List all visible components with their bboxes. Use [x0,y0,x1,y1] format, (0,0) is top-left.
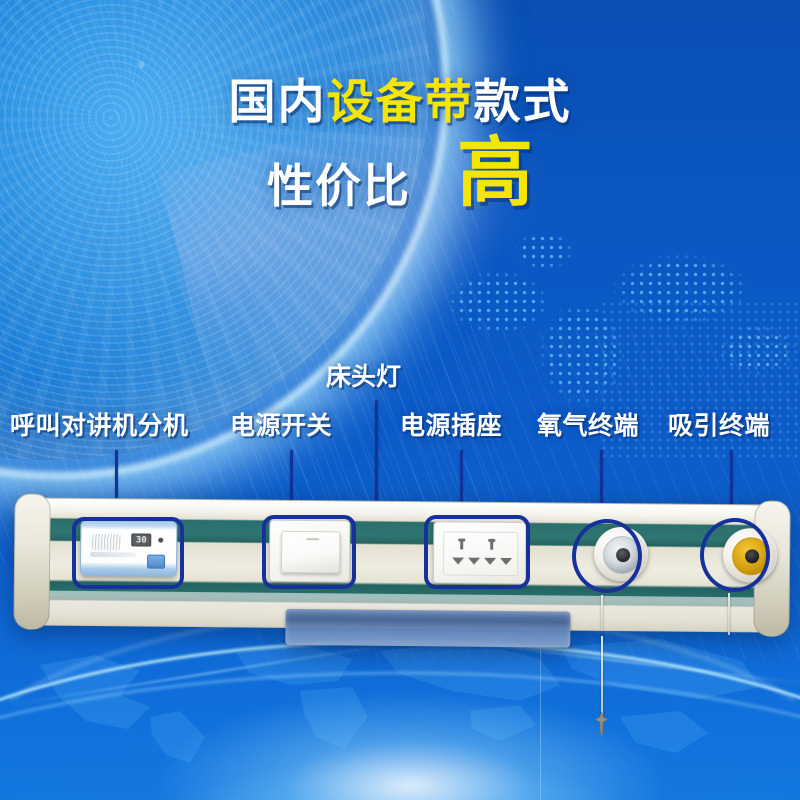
callout-label-power-switch: 电源开关 [230,406,332,442]
highlight-box-intercom [72,517,184,589]
callout-label-suction-terminal: 吸引终端 [668,406,770,442]
highlight-ellipse-suction [700,518,770,592]
callout-label-intercom: 呼叫对讲机分机 [10,406,189,442]
highlight-box-power-socket [424,515,530,589]
callout-label-oxygen-terminal: 氧气终端 [537,406,639,442]
pull-cord [601,636,603,718]
promo-image: 国内设备带款式 性价比 高 床头灯 呼叫对讲机分机 电源开关 电源插座 氧气终端… [0,0,800,800]
oxygen-cord-upper [601,595,603,631]
callout-label-power-socket: 电源插座 [400,406,502,442]
highlight-box-power-switch [262,515,356,589]
suction-cord-upper [728,593,730,635]
cord-pull-hook-icon[interactable] [594,712,609,738]
highlight-ellipse-oxygen [572,519,642,593]
callout-label-bed-lamp: 床头灯 [326,357,401,393]
bed-lamp-diffuser[interactable] [285,609,570,648]
panel-end-cap-left [13,493,50,629]
callout-label-row: 呼叫对讲机分机 电源开关 电源插座 氧气终端 吸引终端 [0,406,800,446]
